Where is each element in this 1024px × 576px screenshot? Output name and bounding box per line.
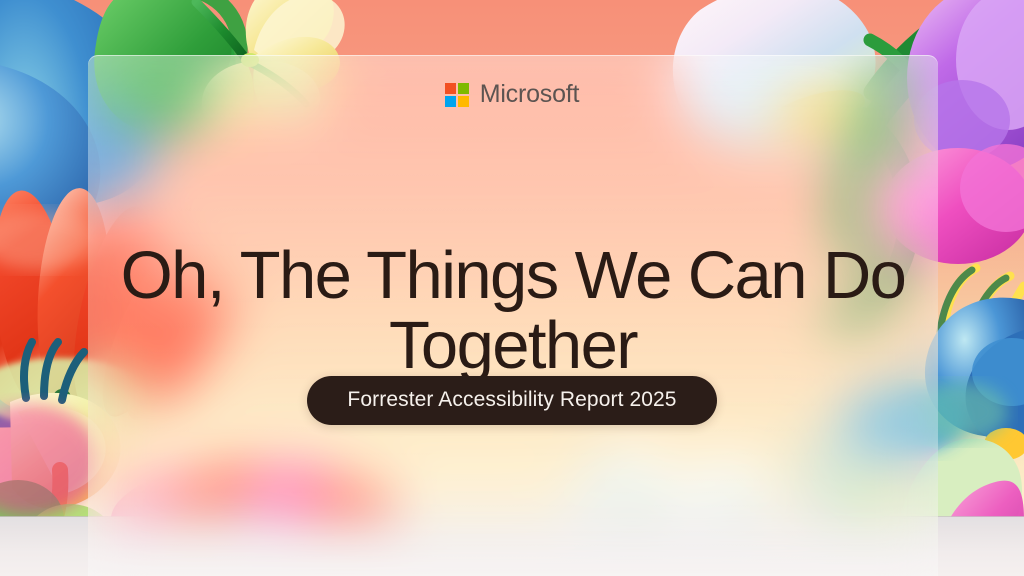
logo-square-blue	[445, 96, 456, 107]
microsoft-logo-lockup: Microsoft	[0, 82, 1024, 107]
report-badge-container: Forrester Accessibility Report 2025	[0, 376, 1024, 425]
microsoft-logo-icon	[445, 83, 469, 107]
page-title: Oh, The Things We Can Do Together	[110, 241, 916, 380]
logo-square-red	[445, 83, 456, 94]
microsoft-wordmark: Microsoft	[480, 82, 580, 107]
title-slide: Microsoft Oh, The Things We Can Do Toget…	[0, 0, 1024, 576]
report-badge: Forrester Accessibility Report 2025	[307, 376, 716, 425]
logo-square-yellow	[458, 96, 469, 107]
logo-square-green	[458, 83, 469, 94]
